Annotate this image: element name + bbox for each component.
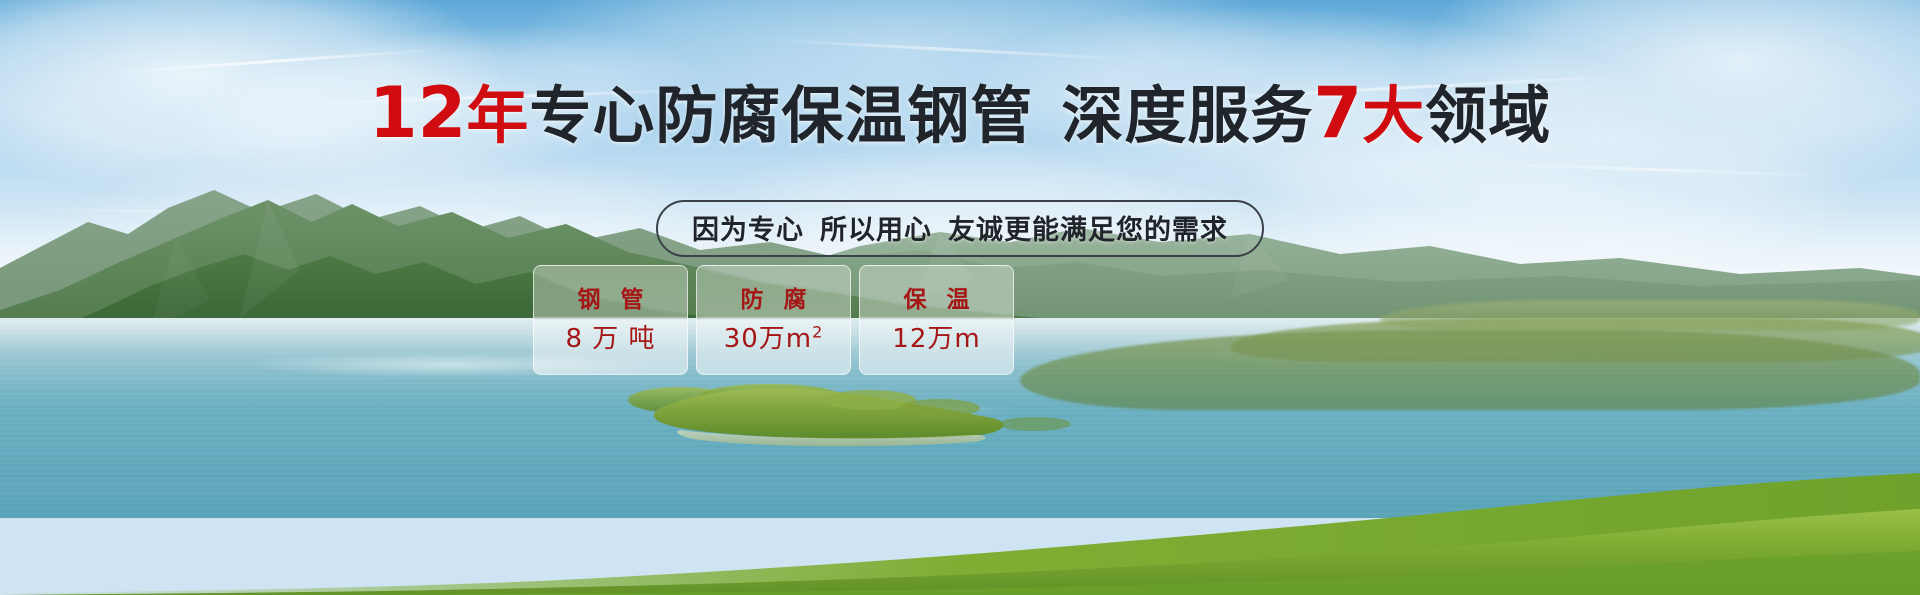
headline-main-text: 专心防腐保温钢管 <box>529 79 1033 152</box>
stat-card-title: 钢 管 <box>571 289 649 312</box>
headline-years-number: 12 <box>369 72 466 154</box>
subtitle-part-1: 因为专心 <box>692 215 804 246</box>
stat-value-main: 8 万 吨 <box>565 324 655 354</box>
page-title: 12年专心防腐保温钢管深度服务7大领域 <box>0 78 1920 148</box>
grass-islet <box>620 378 1080 458</box>
subtitle-pill: 因为专心所以用心友诚更能满足您的需求 <box>656 200 1264 257</box>
stat-card-title: 防 腐 <box>734 289 812 312</box>
promo-banner: 12年专心防腐保温钢管深度服务7大领域 因为专心所以用心友诚更能满足您的需求 钢… <box>0 0 1920 595</box>
stat-value-main: 30万m <box>724 324 812 354</box>
stat-card-list: 钢 管 8 万 吨 防 腐 30万m2 保 温 12万m <box>533 265 1014 375</box>
subtitle-part-3: 友诚更能满足您的需求 <box>948 215 1228 246</box>
headline-years-unit: 年 <box>466 79 529 152</box>
subtitle-part-2: 所以用心 <box>820 215 932 246</box>
stat-card-value: 8 万 吨 <box>565 326 655 352</box>
stat-card-value: 12万m <box>892 326 980 352</box>
stat-card-steel-pipe: 钢 管 8 万 吨 <box>533 265 688 375</box>
stat-card-insulation: 保 温 12万m <box>859 265 1014 375</box>
stat-card-anticorrosion: 防 腐 30万m2 <box>696 265 851 375</box>
headline-fields-unit: 大 <box>1362 79 1425 152</box>
stat-value-superscript: 2 <box>812 322 823 341</box>
stat-card-value: 30万m2 <box>724 326 824 352</box>
stat-card-title: 保 温 <box>897 289 975 312</box>
headline-service-text: 深度服务 <box>1061 79 1313 152</box>
headline-fields-text: 领域 <box>1425 79 1551 152</box>
headline-fields-number: 7 <box>1313 72 1362 154</box>
stat-value-main: 12万m <box>892 324 980 354</box>
